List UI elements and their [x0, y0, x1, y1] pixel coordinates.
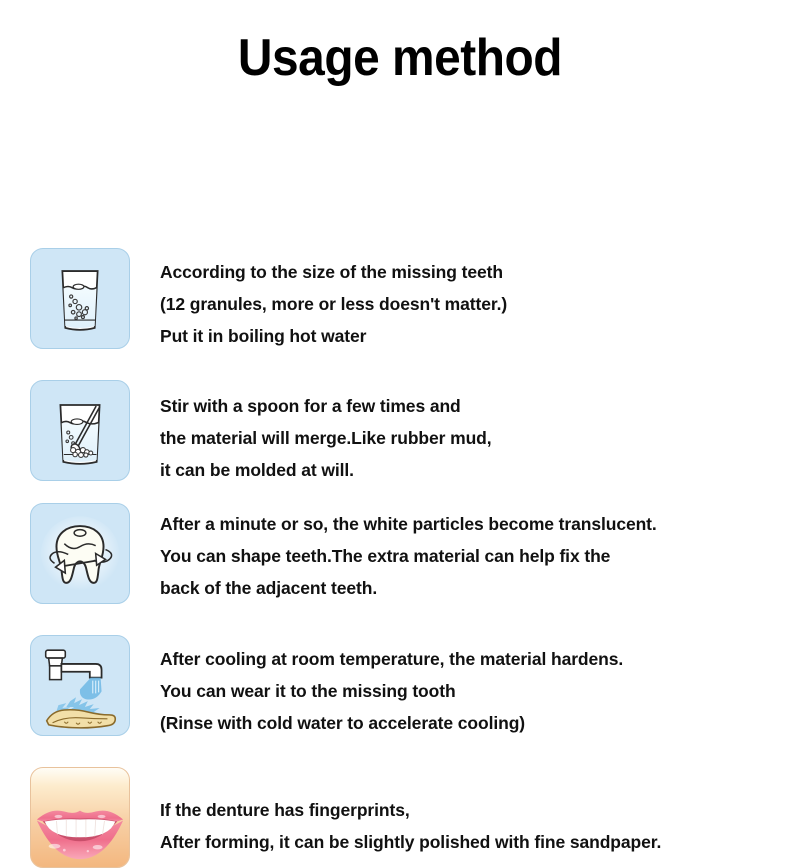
step-text-1: According to the size of the missing tee…: [160, 256, 507, 352]
step-line: Put it in boiling hot water: [160, 320, 507, 352]
step-line: Stir with a spoon for a few times and: [160, 390, 492, 422]
glass-of-water-with-granules-icon: [30, 248, 130, 349]
step-line: (Rinse with cold water to accelerate coo…: [160, 707, 623, 739]
step-line: You can wear it to the missing tooth: [160, 675, 623, 707]
step-line: If the denture has fingerprints,: [160, 794, 661, 826]
tooth-shaping-arrows-icon: [30, 503, 130, 604]
faucet-washing-hands-icon: [30, 635, 130, 736]
step-line: back of the adjacent teeth.: [160, 572, 657, 604]
step-line: (12 granules, more or less doesn't matte…: [160, 288, 507, 320]
step-line: After forming, it can be slightly polish…: [160, 826, 661, 858]
step-line: After cooling at room temperature, the m…: [160, 643, 623, 675]
step-text-2: Stir with a spoon for a few times and th…: [160, 390, 492, 486]
glass-with-spoon-stirring-icon: [30, 380, 130, 481]
page-title: Usage method: [32, 28, 768, 88]
usage-method-infographic: Usage method: [0, 0, 800, 800]
step-line: the material will merge.Like rubber mud,: [160, 422, 492, 454]
step-text-3: After a minute or so, the white particle…: [160, 508, 657, 604]
step-line: it can be molded at will.: [160, 454, 492, 486]
smiling-mouth-teeth-icon: [30, 767, 130, 868]
step-text-4: After cooling at room temperature, the m…: [160, 643, 623, 739]
step-line: After a minute or so, the white particle…: [160, 508, 657, 540]
step-line: According to the size of the missing tee…: [160, 256, 507, 288]
step-text-5: If the denture has fingerprints, After f…: [160, 794, 661, 858]
step-line: You can shape teeth.The extra material c…: [160, 540, 657, 572]
